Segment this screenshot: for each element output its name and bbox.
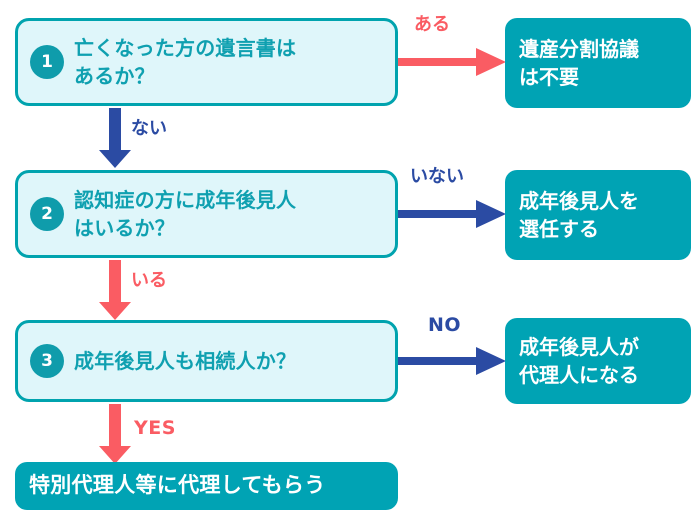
question-number-badge-2: 2	[30, 197, 64, 231]
question-text-2: 認知症の方に成年後見人 はいるか？	[74, 186, 395, 243]
question-number-badge-1: 1	[30, 45, 64, 79]
question-box-2[interactable]: 2 認知症の方に成年後見人 はいるか？	[15, 170, 398, 258]
question-number-badge-3: 3	[30, 344, 64, 378]
edge-label-inai: いない	[410, 168, 464, 186]
edge-label-aru: ある	[414, 16, 450, 34]
edge-label-iru: いる	[131, 272, 167, 290]
arrow-right-inai	[398, 198, 508, 230]
question-text-3: 成年後見人も相続人か？	[74, 347, 395, 375]
arrow-down-iru	[98, 260, 132, 322]
result-box-1[interactable]: 遺産分割協議 は不要	[505, 18, 691, 108]
question-box-1[interactable]: 1 亡くなった方の遺言書は あるか？	[15, 18, 398, 106]
result-text-3: 成年後見人が 代理人になる	[519, 333, 639, 390]
result-box-final[interactable]: 特別代理人等に代理してもらう	[15, 462, 398, 510]
result-text-1: 遺産分割協議 は不要	[519, 35, 639, 92]
result-box-2[interactable]: 成年後見人を 選任する	[505, 170, 691, 260]
edge-label-nai: ない	[131, 120, 167, 138]
flowchart-canvas: 1 亡くなった方の遺言書は あるか？ ある 遺産分割協議 は不要 ない 2 認知…	[0, 0, 700, 525]
result-box-3[interactable]: 成年後見人が 代理人になる	[505, 318, 691, 404]
result-text-2: 成年後見人を 選任する	[519, 187, 639, 244]
question-box-3[interactable]: 3 成年後見人も相続人か？	[15, 320, 398, 402]
edge-label-yes: YES	[134, 419, 176, 438]
result-text-final: 特別代理人等に代理してもらう	[29, 471, 326, 501]
edge-label-no: NO	[428, 316, 461, 335]
arrow-right-no	[398, 345, 508, 377]
arrow-down-yes	[98, 404, 132, 466]
question-text-1: 亡くなった方の遺言書は あるか？	[74, 34, 395, 91]
arrow-down-nai	[98, 108, 132, 170]
arrow-right-aru	[398, 46, 508, 78]
